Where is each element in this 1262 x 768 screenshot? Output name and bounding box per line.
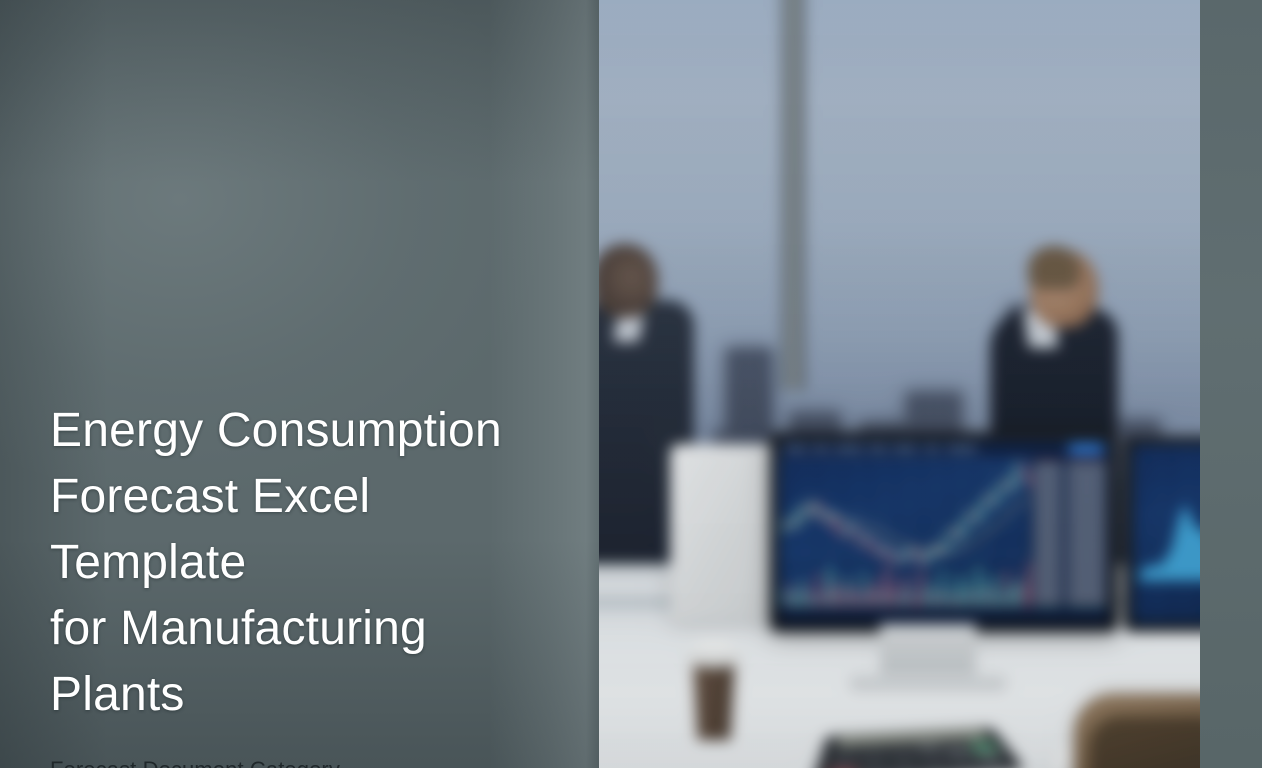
photo-blur-layer (598, 0, 1200, 768)
window-mullion (782, 0, 804, 390)
area-chart (1139, 495, 1200, 581)
monitor-main (770, 432, 1118, 632)
monitor-main-screen (779, 441, 1109, 623)
slide-root: Energy Consumption Forecast Excel Templa… (0, 0, 1262, 768)
office-chair (1074, 694, 1200, 768)
subtitle-group: Forecast Document Category Template Down… (50, 752, 570, 768)
quote-panel (1030, 457, 1109, 607)
hero-photo (598, 0, 1200, 768)
monitor-stand (880, 624, 976, 680)
coffee-cup (686, 638, 742, 740)
monitor-secondary-screen (1133, 445, 1200, 623)
right-color-band (1200, 0, 1262, 768)
subtitle-category: Forecast Document Category (50, 752, 570, 768)
monitor-secondary (1124, 436, 1200, 632)
text-block: Energy Consumption Forecast Excel Templa… (50, 398, 570, 768)
monitor-foot (850, 674, 1006, 690)
page-title: Energy Consumption Forecast Excel Templa… (50, 398, 570, 728)
